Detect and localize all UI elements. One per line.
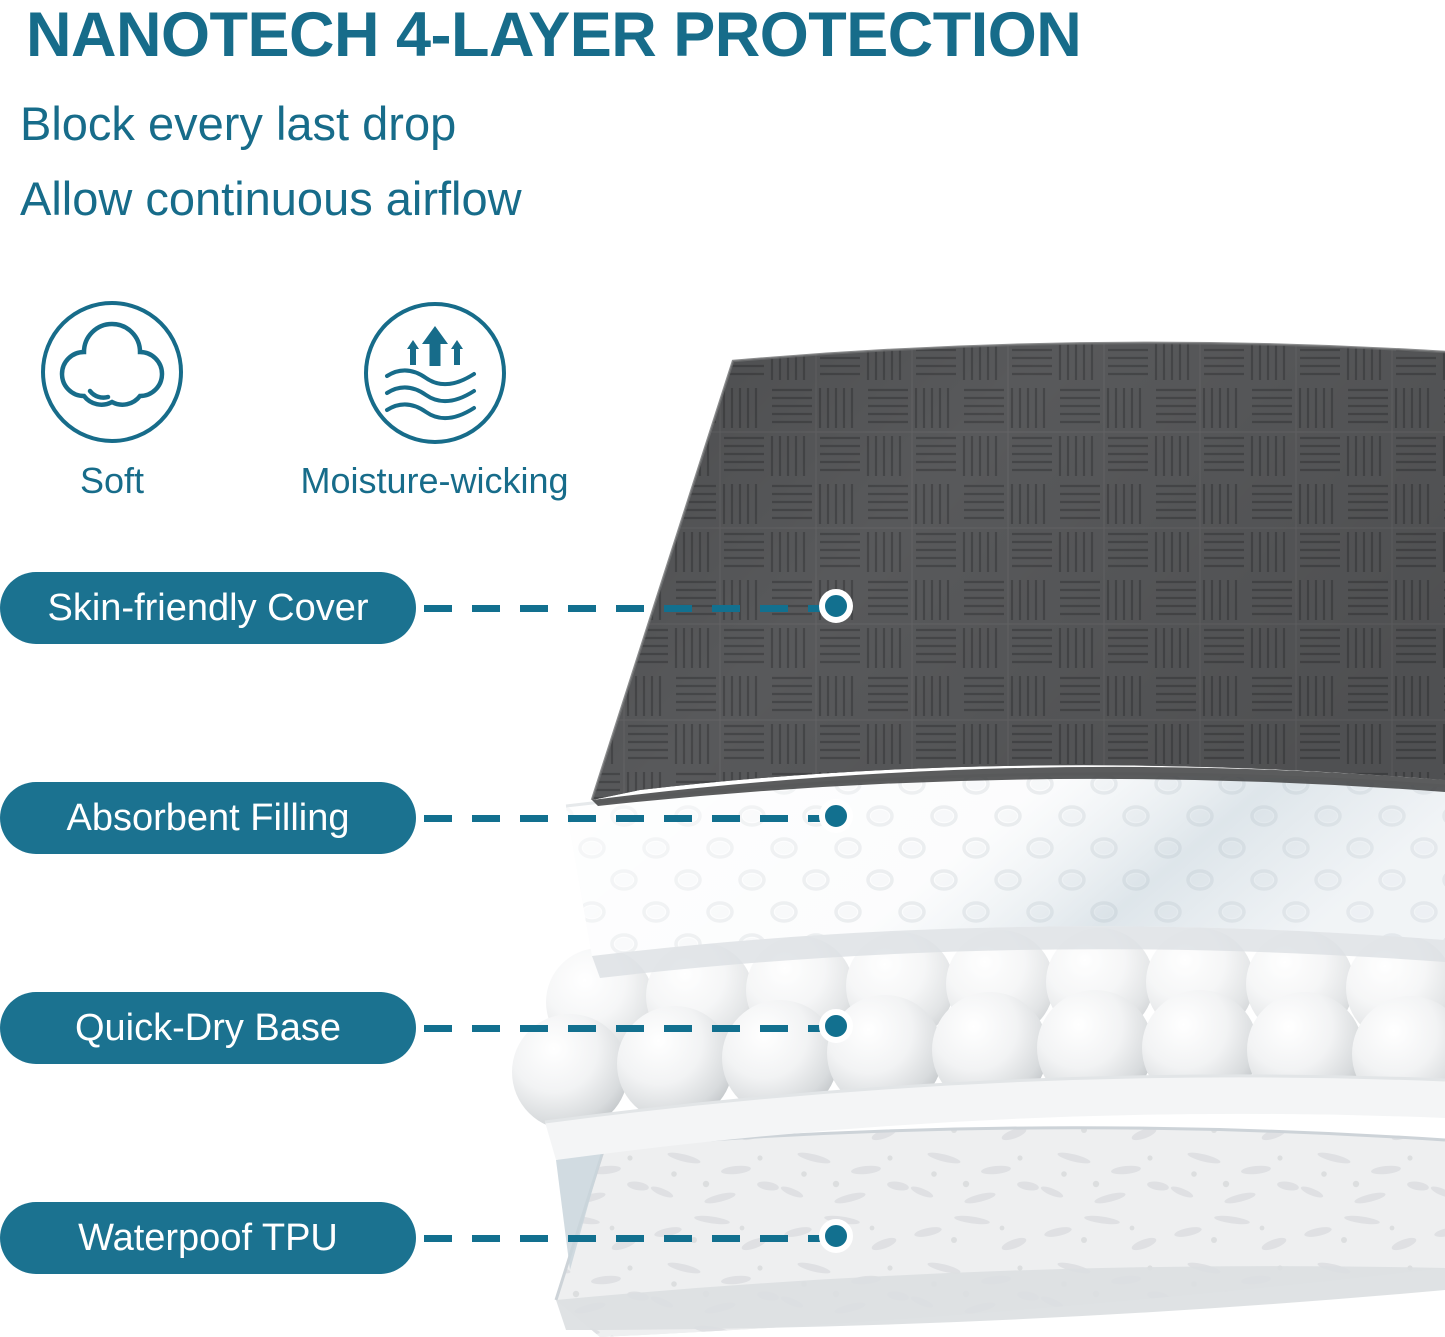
infographic-canvas: NANOTECH 4-LAYER PROTECTION Block every …	[0, 0, 1445, 1337]
layer-waterproof-tpu	[540, 1100, 1445, 1337]
feature-moisture-wicking: Moisture-wicking	[292, 298, 577, 502]
callout-dot-quick-dry-base	[819, 1009, 853, 1043]
feature-moisture-wicking-label: Moisture-wicking	[292, 460, 577, 502]
layer-quick-dry-base	[512, 928, 1445, 1160]
wave-arrows-icon	[360, 298, 510, 446]
layer-label-absorbent-filling: Absorbent Filling	[0, 782, 416, 854]
connector-line-quick-dry-base	[424, 1025, 836, 1032]
connector-line-waterproof-tpu	[424, 1235, 836, 1242]
callout-dot-waterproof-tpu	[819, 1219, 853, 1253]
layer-absorbent-filling	[540, 740, 1445, 978]
subheading-airflow: Allow continuous airflow	[20, 175, 522, 222]
layer-label-waterproof-tpu: Waterpoof TPU	[0, 1202, 416, 1274]
connector-line-absorbent-filling	[424, 815, 836, 822]
cloud-icon	[38, 298, 186, 446]
callout-dot-skin-friendly-cover	[819, 589, 853, 623]
layer-label-quick-dry-base: Quick-Dry Base	[0, 992, 416, 1064]
layer-label-skin-friendly-cover: Skin-friendly Cover	[0, 572, 416, 644]
callout-dot-absorbent-filling	[819, 799, 853, 833]
feature-soft: Soft	[38, 298, 186, 502]
connector-line-skin-friendly-cover	[424, 605, 836, 612]
feature-soft-label: Soft	[38, 460, 186, 502]
page-title: NANOTECH 4-LAYER PROTECTION	[26, 2, 1426, 68]
layer-skin-friendly-cover	[560, 320, 1445, 820]
subheading-block-drop: Block every last drop	[20, 100, 456, 147]
